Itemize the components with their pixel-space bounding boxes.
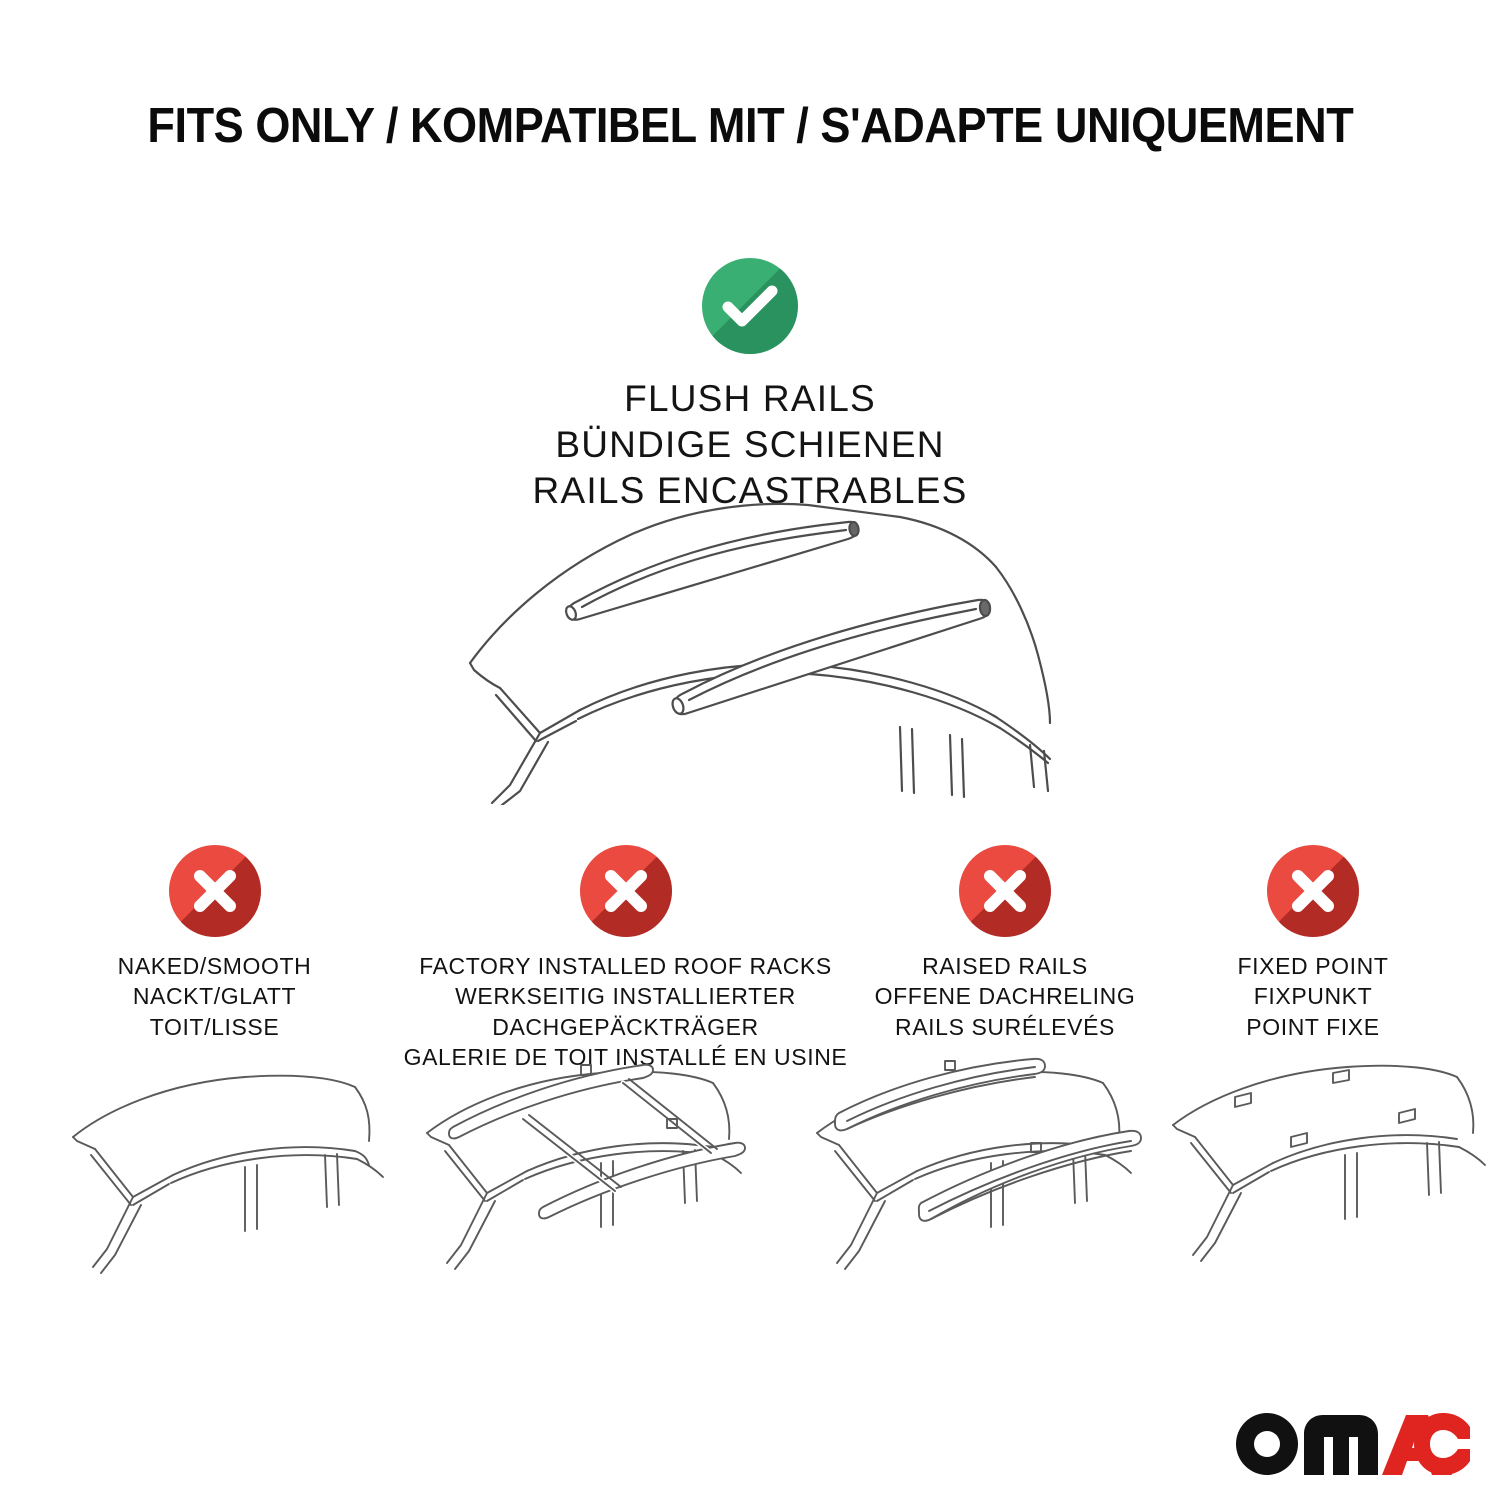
- logo-text: OMAC: [1232, 1480, 1233, 1481]
- not-compatible-label: NAKED/SMOOTH NACKT/GLATT TOIT/LISSE: [62, 951, 367, 1042]
- not-compatible-item-factory-roof-racks: FACTORY INSTALLED ROOF RACKS WERKSEITIG …: [398, 845, 853, 1072]
- label-line-2: OFFENE DACHRELING: [855, 981, 1155, 1011]
- label-line-1: FACTORY INSTALLED ROOF RACKS: [398, 951, 853, 981]
- header: FITS ONLY / KOMPATIBEL MIT / S'ADAPTE UN…: [0, 98, 1500, 154]
- not-compatible-item-raised-rails: RAISED RAILS OFFENE DACHRELING RAILS SUR…: [855, 845, 1155, 1042]
- not-compatible-item-fixed-point: FIXED POINT FIXPUNKT POINT FIXE: [1163, 845, 1463, 1042]
- label-line-2: NACKT/GLATT: [62, 981, 367, 1011]
- x-circle-icon: [169, 845, 261, 937]
- compatible-label: FLUSH RAILS BÜNDIGE SCHIENEN RAILS ENCAS…: [0, 376, 1500, 514]
- label-line-3: RAILS SURÉLEVÉS: [855, 1012, 1155, 1042]
- compatibility-infographic: FITS ONLY / KOMPATIBEL MIT / S'ADAPTE UN…: [0, 0, 1500, 1500]
- compatible-label-line-1: FLUSH RAILS: [0, 376, 1500, 422]
- car-roof-naked-smooth-illustration: [55, 1055, 400, 1300]
- car-roof-factory-racks-illustration: [405, 1055, 775, 1300]
- car-roof-fixed-point-illustration: [1155, 1055, 1500, 1300]
- label-line-3: TOIT/LISSE: [62, 1012, 367, 1042]
- label-line-3: POINT FIXE: [1163, 1012, 1463, 1042]
- label-line-2: FIXPUNKT: [1163, 981, 1463, 1011]
- car-roof-flush-rails-illustration: [430, 495, 1080, 805]
- not-compatible-label: RAISED RAILS OFFENE DACHRELING RAILS SUR…: [855, 951, 1155, 1042]
- compatible-section: FLUSH RAILS BÜNDIGE SCHIENEN RAILS ENCAS…: [0, 258, 1500, 514]
- x-circle-icon: [580, 845, 672, 937]
- compatible-label-line-2: BÜNDIGE SCHIENEN: [0, 422, 1500, 468]
- car-roof-raised-rails-illustration: [795, 1055, 1165, 1300]
- label-line-2: WERKSEITIG INSTALLIERTER: [398, 981, 853, 1011]
- label-line-3: DACHGEPÄCKTRÄGER: [398, 1012, 853, 1042]
- label-line-1: NAKED/SMOOTH: [62, 951, 367, 981]
- not-compatible-item-naked-smooth: NAKED/SMOOTH NACKT/GLATT TOIT/LISSE: [62, 845, 367, 1042]
- x-circle-icon: [959, 845, 1051, 937]
- check-circle-icon: [702, 258, 798, 354]
- not-compatible-section: NAKED/SMOOTH NACKT/GLATT TOIT/LISSE FACT…: [0, 845, 1500, 1075]
- page-title: FITS ONLY / KOMPATIBEL MIT / S'ADAPTE UN…: [147, 98, 1353, 154]
- x-circle-icon: [1267, 845, 1359, 937]
- not-compatible-label: FIXED POINT FIXPUNKT POINT FIXE: [1163, 951, 1463, 1042]
- label-line-1: RAISED RAILS: [855, 951, 1155, 981]
- label-line-1: FIXED POINT: [1163, 951, 1463, 981]
- omac-logo: OMAC: [1232, 1408, 1472, 1480]
